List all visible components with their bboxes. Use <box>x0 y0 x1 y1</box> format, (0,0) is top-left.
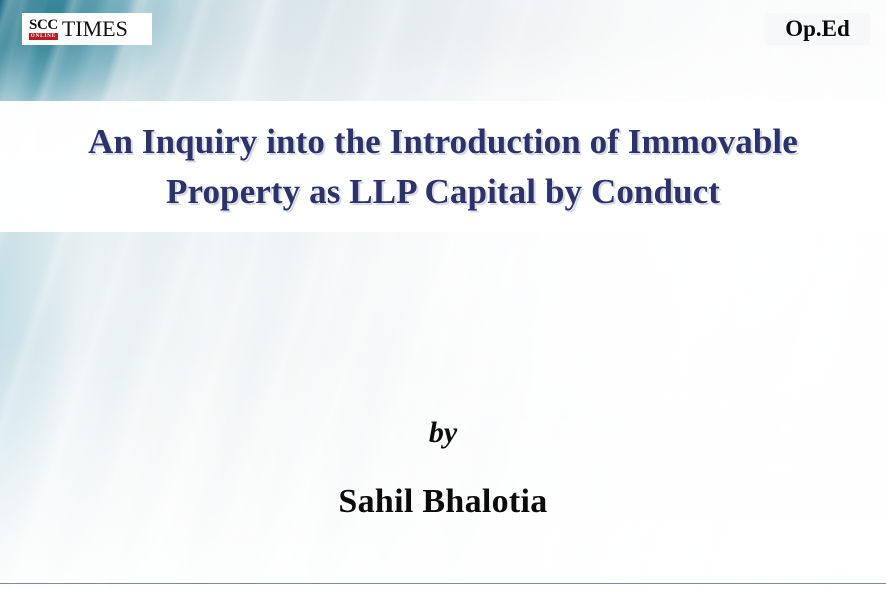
article-title-card: SCC ONLINE TIMES Op.Ed An Inquiry into t… <box>0 0 886 590</box>
byline-prefix: by <box>0 412 886 454</box>
scc-logo-times-text: TIMES <box>62 18 128 40</box>
op-ed-badge[interactable]: Op.Ed <box>765 13 870 45</box>
header-bar: SCC ONLINE TIMES Op.Ed <box>0 0 886 101</box>
author-name: Sahil Bhalotia <box>0 479 886 525</box>
article-title-line-2: Property as LLP Capital by Conduct <box>166 167 720 217</box>
op-ed-badge-label: Op.Ed <box>785 16 850 42</box>
byline: by Sahil Bhalotia <box>0 412 886 525</box>
scc-online-times-logo[interactable]: SCC ONLINE TIMES <box>22 13 152 45</box>
title-band: An Inquiry into the Introduction of Immo… <box>0 101 886 232</box>
scc-logo-mark: SCC ONLINE <box>29 18 58 40</box>
footer-divider <box>0 583 886 584</box>
article-title-line-1: An Inquiry into the Introduction of Immo… <box>88 117 798 167</box>
scc-logo-primary-text: SCC <box>29 18 58 32</box>
scc-logo-online-badge: ONLINE <box>29 33 58 40</box>
